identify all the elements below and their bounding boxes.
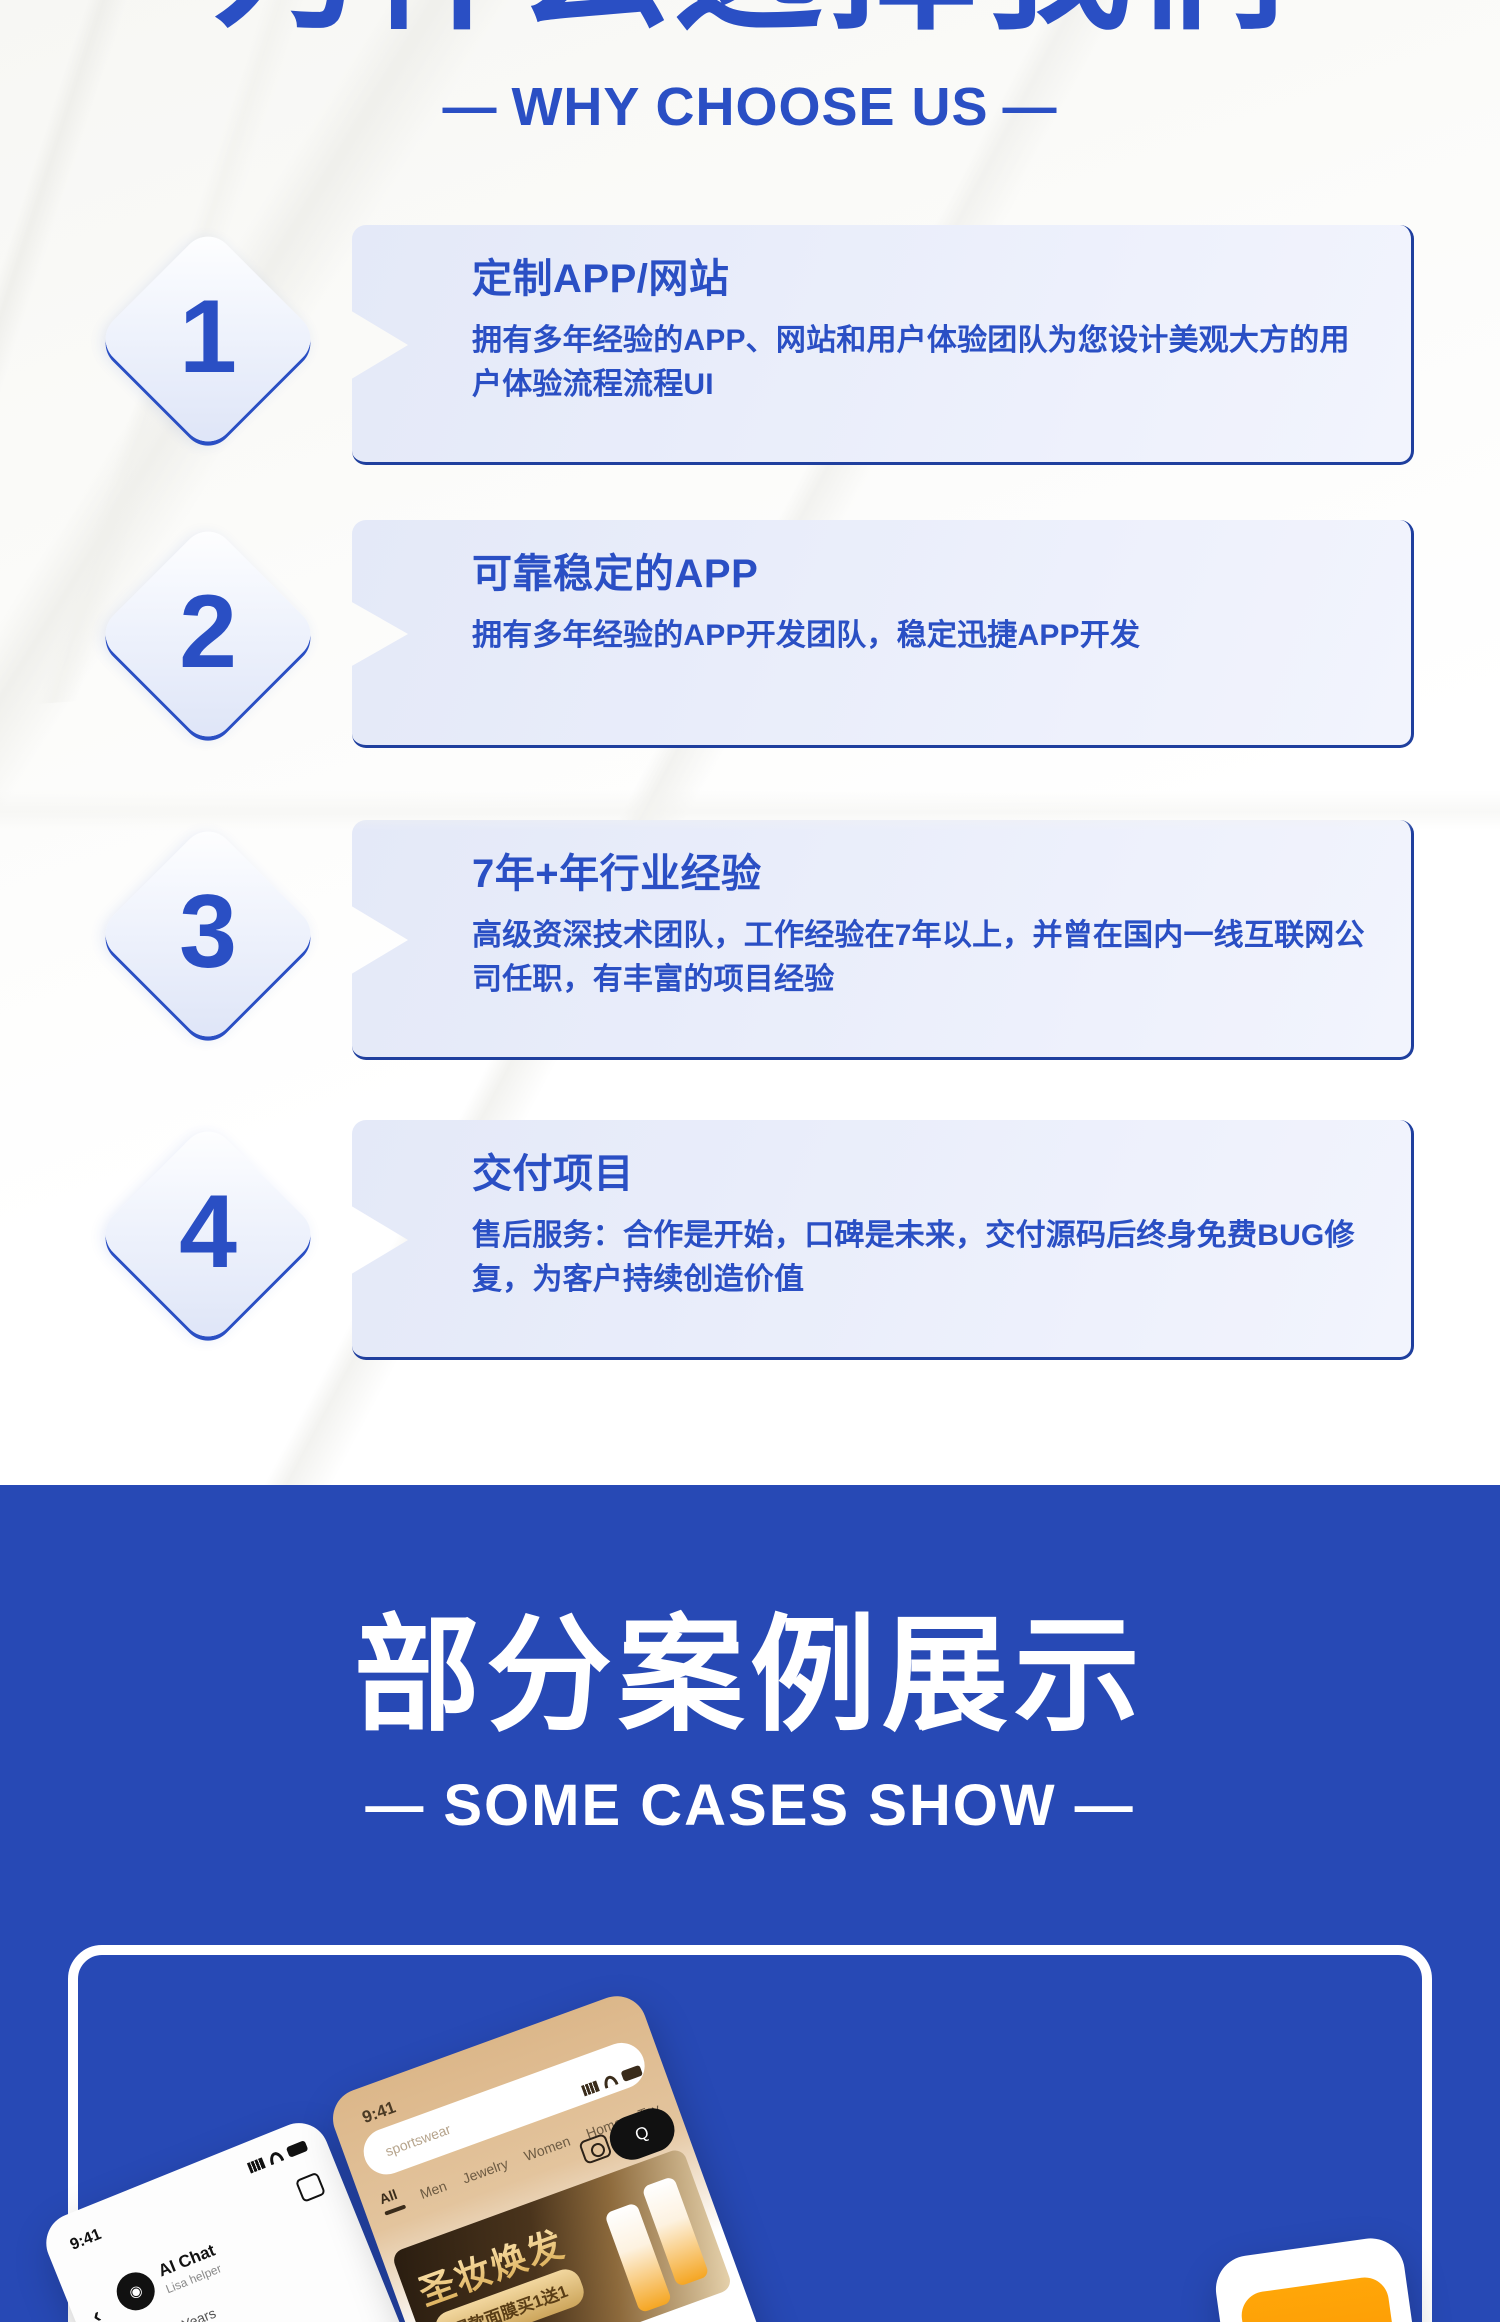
feature-card-1[interactable]: 定制APP/网站 拥有多年经验的APP、网站和用户体验团队为您设计美观大方的用户…	[352, 225, 1414, 465]
feature-card-2[interactable]: 可靠稳定的APP 拥有多年经验的APP开发团队，稳定迅捷APP开发	[352, 520, 1414, 748]
feature-heading-4: 交付项目	[472, 1152, 1365, 1196]
tab-women[interactable]: Women	[522, 2133, 573, 2164]
feature-card-4[interactable]: 交付项目 售后服务：合作是开始，口碑是未来，交付源码后终身免费BUG修复，为客户…	[352, 1120, 1414, 1360]
why-title-cn: 为什么选择我们	[0, 0, 1500, 38]
why-title-en: —WHY CHOOSE US—	[0, 76, 1500, 138]
status-time: 9:41	[360, 2097, 399, 2127]
feature-description-4: 售后服务：合作是开始，口碑是未来，交付源码后终身免费BUG修复，为客户持续创造价…	[472, 1214, 1365, 1301]
title-dash-right: —	[1003, 76, 1058, 138]
feature-number-badge-1: 1	[94, 225, 322, 453]
feature-number-4: 4	[94, 1120, 322, 1348]
tab-jewelry[interactable]: Jewelry	[460, 2155, 510, 2186]
feature-description-2: 拥有多年经验的APP开发团队，稳定迅捷APP开发	[472, 614, 1365, 658]
feature-number-2: 2	[94, 520, 322, 748]
signal-bars-icon	[247, 2157, 266, 2173]
feature-description-1: 拥有多年经验的APP、网站和用户体验团队为您设计美观大方的用户体验流程流程UI	[472, 319, 1365, 406]
feature-number-badge-3: 3	[94, 820, 322, 1048]
feature-description-3: 高级资深技术团队，工作经验在7年以上，并曾在国内一线互联网公司任职，有丰富的项目…	[472, 914, 1365, 1001]
feature-number-1: 1	[94, 225, 322, 453]
why-title-en-text: WHY CHOOSE US	[511, 77, 988, 137]
why-choose-us-section: 为什么选择我们 —WHY CHOOSE US— 1 定制APP/网站 拥有多年经…	[0, 0, 1500, 1485]
status-indicators	[247, 2140, 309, 2173]
feature-number-badge-2: 2	[94, 520, 322, 748]
battery-icon	[286, 2140, 309, 2158]
feature-number-badge-4: 4	[94, 1120, 322, 1348]
title-dash-left: —	[442, 76, 497, 138]
tab-all[interactable]: All	[377, 2185, 406, 2216]
feature-heading-1: 定制APP/网站	[472, 257, 1365, 301]
landing-page: 为什么选择我们 —WHY CHOOSE US— 1 定制APP/网站 拥有多年经…	[0, 0, 1500, 2322]
wifi-icon	[267, 2150, 284, 2165]
yellow-app-screen	[1239, 2274, 1412, 2322]
status-time: 9:41	[68, 2226, 104, 2255]
feature-number-3: 3	[94, 820, 322, 1048]
back-icon[interactable]: ‹	[88, 2302, 105, 2322]
feature-heading-3: 7年+年行业经验	[472, 852, 1365, 896]
avatar: ◉	[111, 2267, 160, 2316]
compose-icon[interactable]	[295, 2172, 326, 2203]
feature-card-3[interactable]: 7年+年行业经验 高级资深技术团队，工作经验在7年以上，并曾在国内一线互联网公司…	[352, 820, 1414, 1060]
feature-heading-2: 可靠稳定的APP	[472, 552, 1365, 596]
tab-men[interactable]: Men	[418, 2178, 449, 2202]
option-label: 5 To 7 Years	[141, 2305, 218, 2322]
